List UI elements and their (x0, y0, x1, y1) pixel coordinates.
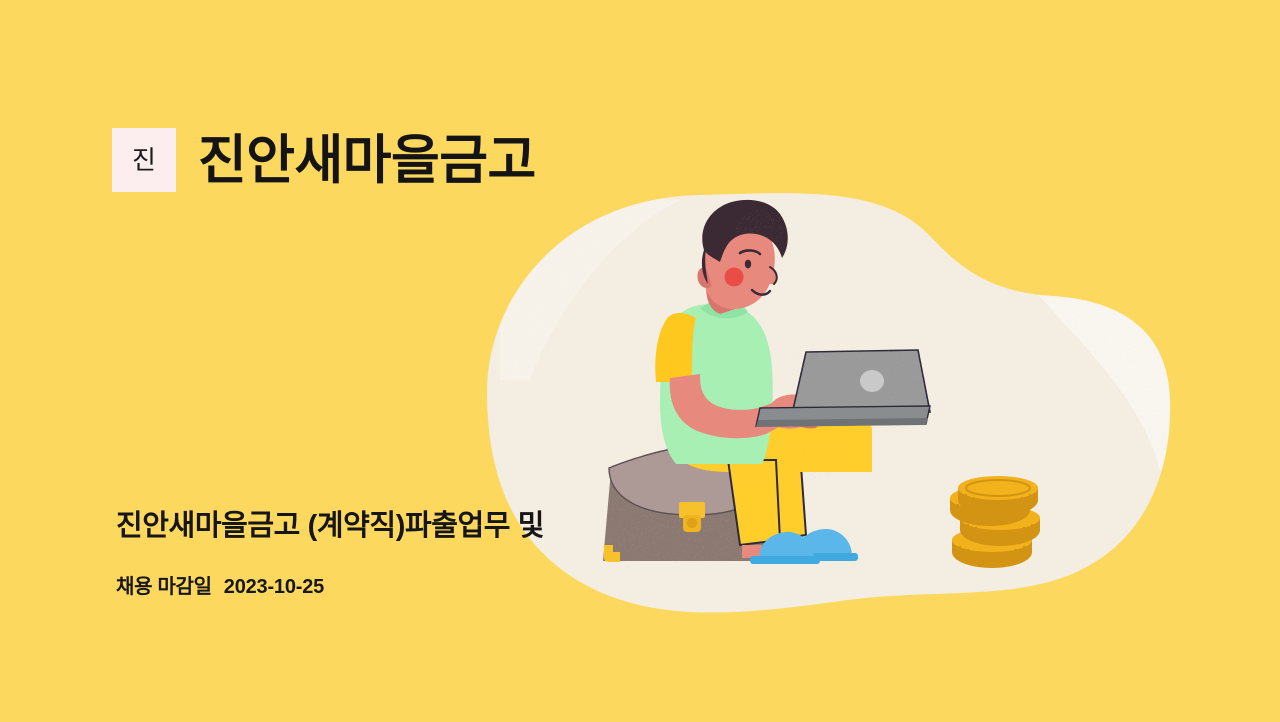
background-blob-layer (0, 0, 1280, 722)
person-pants (668, 410, 872, 545)
company-logo-letter: 진 (132, 147, 156, 173)
deadline-row: 채용 마감일 2023-10-25 (116, 570, 544, 599)
company-name: 진안새마을금고 (198, 134, 536, 187)
coin-stack-group (950, 476, 1040, 568)
illustration-person-working (0, 0, 1280, 722)
person-back-leg (760, 452, 806, 552)
coin-item (960, 506, 1040, 546)
briefcase (600, 440, 790, 570)
person-torso (655, 300, 785, 471)
coin-item (958, 476, 1038, 516)
header: 진 진안새마을금고 (112, 128, 536, 192)
job-info-block: 진안새마을금고 (계약직)파출업무 및 채용 마감일 2023-10-25 (116, 508, 544, 599)
company-logo-badge: 진 (112, 128, 176, 192)
cream-blob-shape (487, 193, 1170, 612)
job-title: 진안새마을금고 (계약직)파출업무 및 (116, 508, 544, 544)
coin-item (950, 486, 1030, 526)
job-posting-card: 진 진안새마을금고 (0, 0, 1280, 722)
person-arm (670, 374, 824, 438)
deadline-label: 채용 마감일 (116, 570, 212, 599)
deadline-value: 2023-10-25 (224, 576, 324, 599)
coin-item (952, 528, 1032, 568)
blue-sneaker-front (742, 532, 820, 564)
person-head (697, 200, 787, 314)
laptop (756, 350, 935, 427)
coin-stack (0, 0, 1280, 722)
blue-sneaker-back (788, 529, 858, 561)
